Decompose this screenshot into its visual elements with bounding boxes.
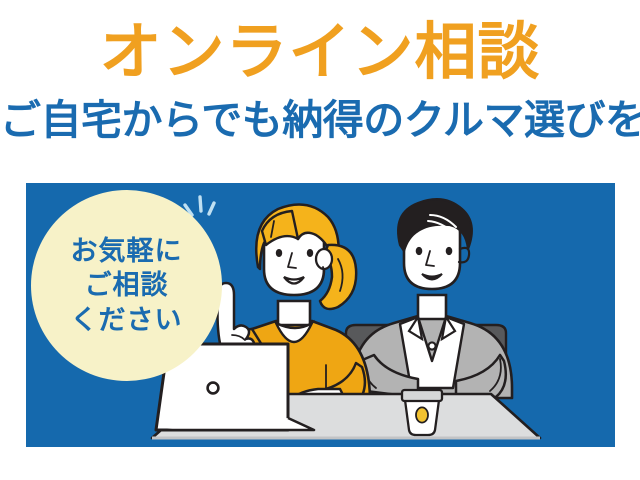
takeaway-coffee-cup — [402, 390, 442, 435]
bubble-line-2: ご相談 — [85, 268, 169, 303]
online-consultation-banner: オンライン相談 ご自宅からでも納得のクルマ選びを .ln{fill:none;s… — [0, 0, 640, 480]
panel-base — [26, 442, 615, 447]
page-title: オンライン相談 — [0, 22, 640, 84]
bubble-line-3: ください — [71, 303, 183, 338]
bubble-line-1: お気軽に — [71, 234, 183, 269]
speech-bubble: お気軽に ご相談 ください — [31, 190, 222, 381]
illustration-panel: .ln{fill:none;stroke:#231F20;stroke-widt… — [26, 183, 615, 447]
page-subtitle: ご自宅からでも納得のクルマ選びを — [0, 100, 640, 141]
sparkle-icon — [185, 197, 214, 215]
headline-block: オンライン相談 ご自宅からでも納得のクルマ選びを — [0, 0, 640, 175]
